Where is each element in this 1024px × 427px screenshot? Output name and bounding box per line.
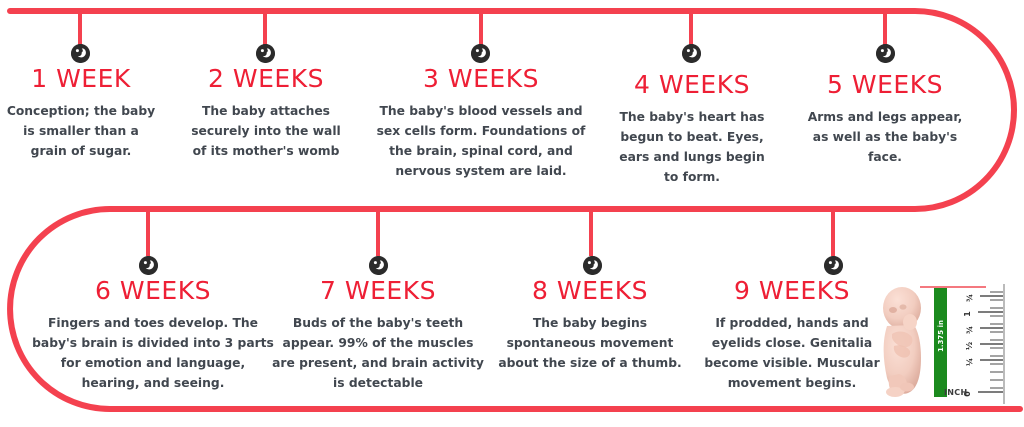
milestone-week-3: 3 WEEKS The baby's blood vessels and sex… <box>372 66 590 182</box>
milestone-description: Arms and legs appear, as well as the bab… <box>806 108 964 168</box>
milestone-title: 1 WEEK <box>4 66 158 91</box>
ruler: ¾ 1 ¾ ½ ¼ 0 <box>950 284 1012 404</box>
milestone-week-2: 2 WEEKS The baby attaches securely into … <box>190 66 342 162</box>
milestone-title: 9 WEEKS <box>694 278 890 303</box>
fetus-marker-icon <box>369 256 388 275</box>
fetus-photo <box>874 286 932 399</box>
milestone-week-6: 6 WEEKS Fingers and toes develop. The ba… <box>32 278 274 394</box>
milestone-week-8: 8 WEEKS The baby begins spontaneous move… <box>490 278 690 374</box>
milestone-title: 8 WEEKS <box>490 278 690 303</box>
fetus-marker-icon <box>876 44 895 63</box>
milestone-week-1: 1 WEEK Conception; the baby is smaller t… <box>4 66 158 162</box>
fetus-marker-icon <box>139 256 158 275</box>
fetus-marker-icon <box>682 44 701 63</box>
measurement-bar: 1.375 in <box>934 288 947 397</box>
pregnancy-timeline-infographic: 1 WEEK Conception; the baby is smaller t… <box>0 0 1024 427</box>
measurement-label: 1.375 in <box>937 315 945 357</box>
milestone-description: Fingers and toes develop. The baby's bra… <box>32 314 274 394</box>
milestone-title: 6 WEEKS <box>32 278 274 303</box>
ruler-unit-label: INCH <box>944 388 967 397</box>
fetus-marker-icon <box>256 44 275 63</box>
milestone-week-7: 7 WEEKS Buds of the baby's teeth appear.… <box>271 278 485 394</box>
milestone-description: Buds of the baby's teeth appear. 99% of … <box>271 314 485 394</box>
milestone-week-9: 9 WEEKS If prodded, hands and eyelids cl… <box>694 278 890 394</box>
fetus-size-comparison: 1.375 in <box>872 282 1017 404</box>
milestone-title: 2 WEEKS <box>190 66 342 91</box>
svg-text:¾: ¾ <box>965 294 974 302</box>
fetus-marker-icon <box>824 256 843 275</box>
svg-text:1: 1 <box>963 311 972 317</box>
fetus-marker-icon <box>71 44 90 63</box>
fetus-marker-icon <box>471 44 490 63</box>
milestone-description: Conception; the baby is smaller than a g… <box>4 102 158 162</box>
svg-text:¼: ¼ <box>964 358 974 366</box>
milestone-title: 4 WEEKS <box>612 72 772 97</box>
svg-text:¾: ¾ <box>965 326 974 334</box>
milestone-title: 3 WEEKS <box>372 66 590 91</box>
milestone-description: The baby attaches securely into the wall… <box>190 102 342 162</box>
milestone-title: 5 WEEKS <box>806 72 964 97</box>
svg-text:½: ½ <box>964 342 974 350</box>
fetus-marker-icon <box>583 256 602 275</box>
milestone-title: 7 WEEKS <box>271 278 485 303</box>
milestone-description: The baby's heart has begun to beat. Eyes… <box>612 108 772 188</box>
milestone-description: The baby begins spontaneous movement abo… <box>490 314 690 374</box>
milestone-week-4: 4 WEEKS The baby's heart has begun to be… <box>612 72 772 188</box>
milestone-week-5: 5 WEEKS Arms and legs appear, as well as… <box>806 72 964 168</box>
milestone-description: If prodded, hands and eyelids close. Gen… <box>694 314 890 394</box>
milestone-description: The baby's blood vessels and sex cells f… <box>372 102 590 182</box>
